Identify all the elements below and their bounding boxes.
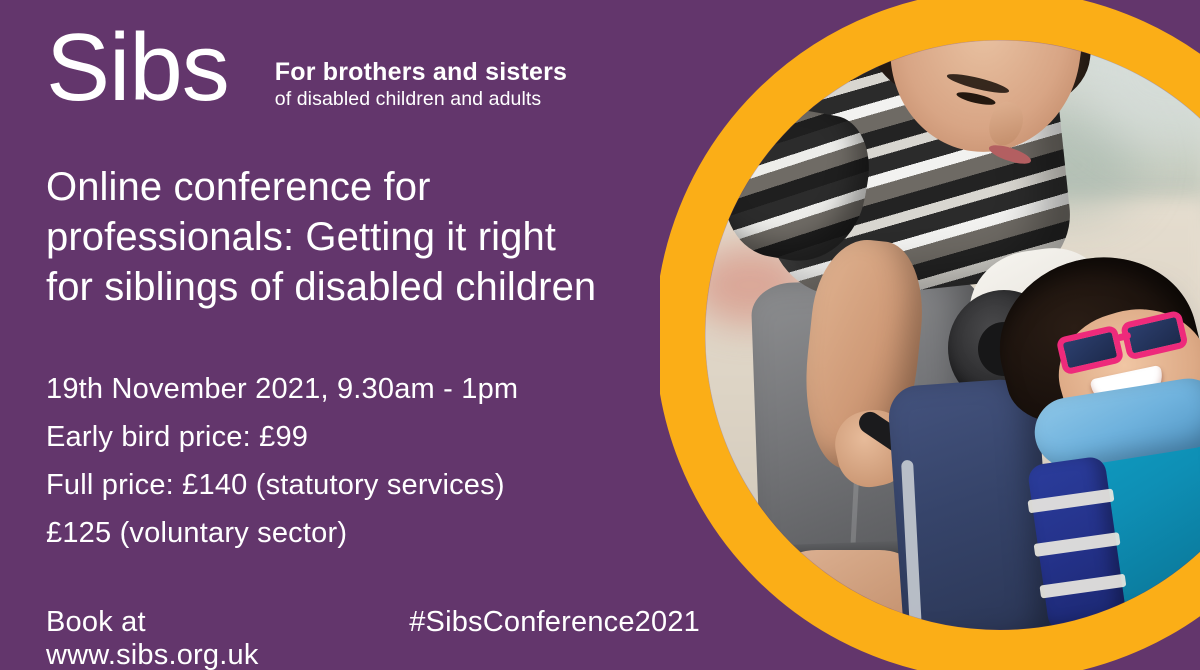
event-details: 19th November 2021, 9.30am - 1pm Early b… [46, 365, 666, 557]
poster-canvas: Sibs For brothers and sisters of disable… [0, 0, 1200, 670]
teen-leg [788, 550, 908, 670]
sibs-wordmark: Sibs [46, 24, 229, 112]
photo-scene [660, 0, 1200, 670]
conference-photo [660, 0, 1200, 670]
tagline-line-2: of disabled children and adults [275, 87, 567, 112]
event-hashtag[interactable]: #SibsConference2021 [409, 606, 700, 639]
booking-link[interactable]: Book at www.sibs.org.uk [46, 606, 365, 670]
full-price-voluntary: £125 (voluntary sector) [46, 509, 666, 557]
splint-strap [1034, 532, 1121, 557]
headline-line-3: for siblings of disabled children [46, 262, 666, 312]
full-price-statutory: Full price: £140 (statutory services) [46, 461, 666, 509]
early-bird-price: Early bird price: £99 [46, 413, 666, 461]
event-date-time: 19th November 2021, 9.30am - 1pm [46, 365, 666, 413]
splint-strap [1039, 574, 1126, 599]
headline-line-2: professionals: Getting it right [46, 212, 666, 262]
text-panel: Sibs For brothers and sisters of disable… [0, 0, 700, 670]
sibs-tagline: For brothers and sisters of disabled chi… [275, 24, 567, 112]
headline-line-1: Online conference for [46, 162, 666, 212]
sibs-logo[interactable]: Sibs For brothers and sisters of disable… [46, 24, 567, 112]
page-title: Online conference for professionals: Get… [46, 162, 666, 312]
splint-strap [1027, 489, 1114, 514]
booking-footer: Book at www.sibs.org.uk #SibsConference2… [46, 606, 700, 670]
sunglasses-left-lens [1056, 325, 1125, 376]
tagline-line-1: For brothers and sisters [275, 58, 567, 87]
